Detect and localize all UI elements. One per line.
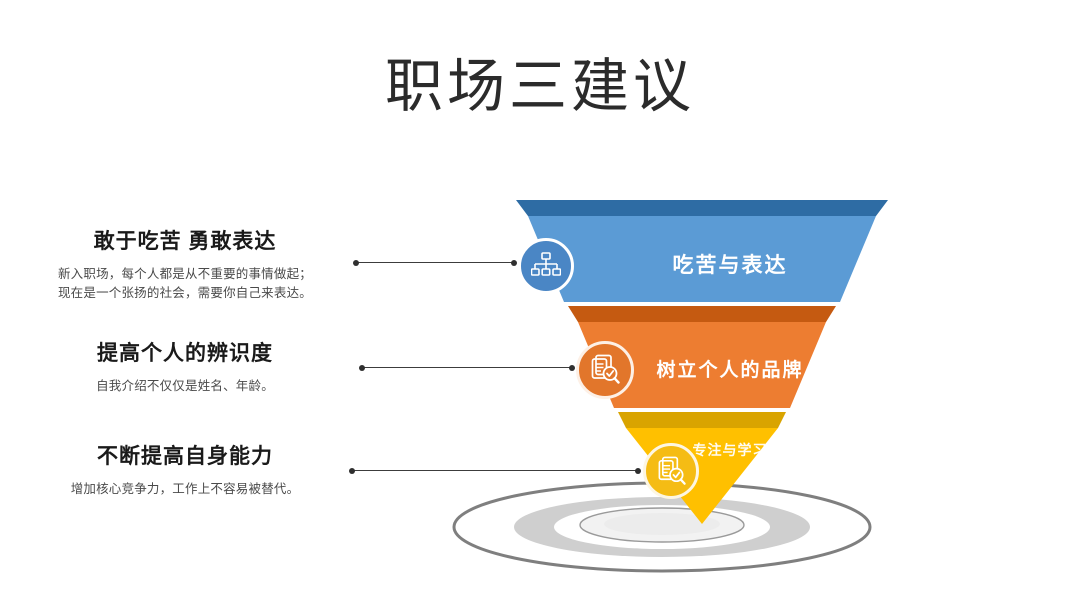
connector-line-1 — [354, 258, 516, 268]
funnel-diagram — [0, 0, 1080, 606]
advice-heading-1: 敢于吃苦 勇敢表达 — [20, 228, 350, 256]
advice-body-3-line-1: 增加核心竞争力，工作上不容易被替代。 — [20, 480, 350, 499]
connector-1-line — [354, 262, 516, 263]
connector-2-dot-end — [569, 365, 575, 371]
advice-body-3: 增加核心竞争力，工作上不容易被替代。 — [20, 480, 350, 499]
advice-block-2: 提高个人的辨识度 自我介绍不仅仅是姓名、年龄。 — [20, 340, 350, 396]
funnel-label-blue: 吃苦与表达 — [620, 249, 840, 279]
connector-1-dot-end — [511, 260, 517, 266]
advice-heading-3: 不断提高自身能力 — [20, 443, 350, 471]
advice-body-2-line-1: 自我介绍不仅仅是姓名、年龄。 — [20, 377, 350, 396]
connector-2-dot-start — [359, 365, 365, 371]
advice-body-1: 新入职场，每个人都是从不重要的事情做起； 现在是一个张扬的社会，需要你自己来表达… — [20, 265, 350, 303]
orange-bevel — [568, 306, 836, 322]
advice-body-2: 自我介绍不仅仅是姓名、年龄。 — [20, 377, 350, 396]
funnel-label-orange: 树立个人的品牌 — [635, 355, 825, 382]
connector-line-2 — [360, 363, 574, 373]
sitemap-icon-badge[interactable] — [518, 238, 574, 294]
advice-block-1: 敢于吃苦 勇敢表达 新入职场，每个人都是从不重要的事情做起； 现在是一个张扬的社… — [20, 228, 350, 303]
sitemap-icon — [531, 252, 561, 280]
advice-body-1-line-2: 现在是一个张扬的社会，需要你自己来表达。 — [20, 284, 350, 303]
connector-line-3 — [350, 466, 640, 476]
connector-3-dot-end — [635, 468, 641, 474]
document-search-icon-badge[interactable] — [576, 341, 634, 399]
connector-2-line — [360, 367, 574, 368]
slide-canvas: 职场三建议 吃苦与表达 树立个人的品牌 专注与学习 — [0, 0, 1080, 606]
connector-3-line — [350, 470, 640, 471]
yellow-bevel — [618, 412, 786, 428]
document-check-search-icon-badge[interactable] — [643, 443, 699, 499]
blue-bevel — [516, 200, 888, 216]
connector-1-dot-start — [353, 260, 359, 266]
document-search-icon — [589, 354, 621, 386]
document-check-search-icon — [656, 456, 687, 487]
advice-heading-2: 提高个人的辨识度 — [20, 340, 350, 368]
advice-block-3: 不断提高自身能力 增加核心竞争力，工作上不容易被替代。 — [20, 443, 350, 499]
advice-body-1-line-1: 新入职场，每个人都是从不重要的事情做起； — [20, 265, 350, 284]
